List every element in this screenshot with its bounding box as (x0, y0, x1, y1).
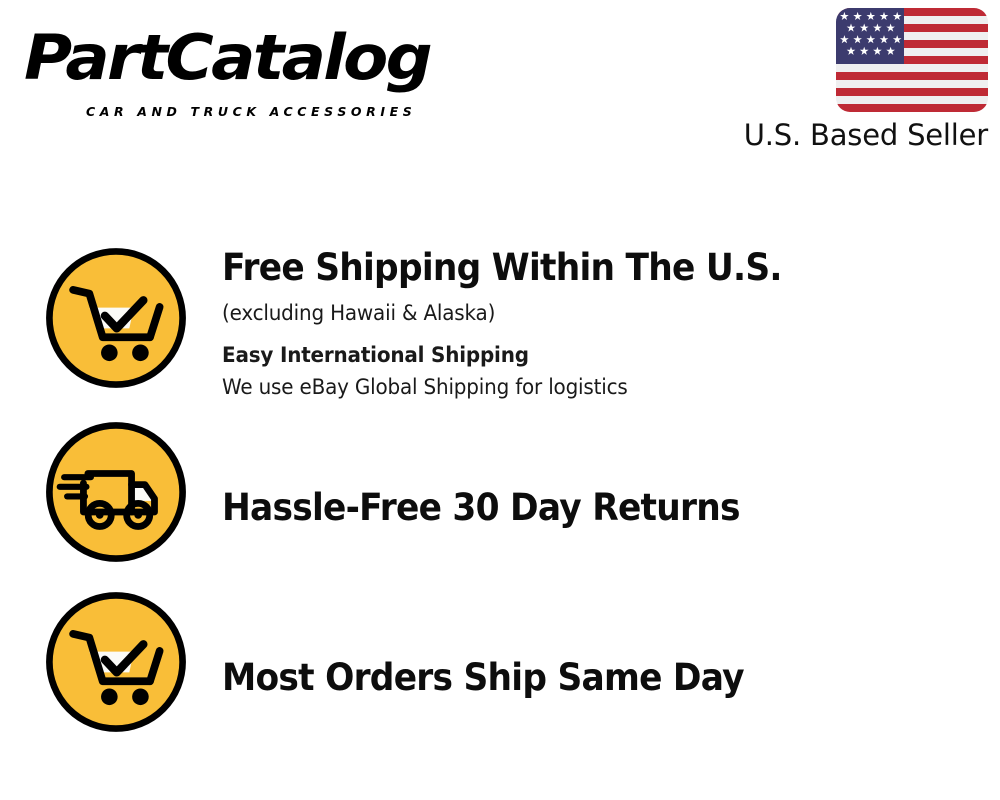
delivery-truck-icon (42, 418, 190, 566)
seller-location-label: U.S. Based Seller (718, 118, 988, 152)
us-based-seller-badge: U.S. Based Seller (718, 8, 988, 152)
us-flag-icon (836, 8, 988, 112)
brand-tagline: CAR AND TRUCK ACCESSORIES (86, 104, 416, 119)
feature-title: Most Orders Ship Same Day (222, 590, 929, 700)
shopping-cart-check-icon (42, 244, 190, 392)
partcatalog-logo[interactable]: PartCatalog CAR AND TRUCK ACCESSORIES (24, 22, 494, 118)
feature-text: Hassle-Free 30 Day Returns (190, 418, 982, 530)
feature-row: Hassle-Free 30 Day Returns (42, 418, 982, 566)
feature-text: Free Shipping Within The U.S. (excluding… (190, 244, 982, 403)
feature-text: Most Orders Ship Same Day (190, 588, 982, 700)
feature-row: Free Shipping Within The U.S. (excluding… (42, 244, 982, 403)
brand-wordmark: PartCatalog (24, 22, 430, 94)
feature-subdetail: We use eBay Global Shipping for logistic… (222, 372, 944, 403)
feature-title: Free Shipping Within The U.S. (222, 246, 929, 290)
feature-subheading: Easy International Shipping (222, 340, 944, 371)
feature-title: Hassle-Free 30 Day Returns (222, 420, 929, 530)
feature-subnote: (excluding Hawaii & Alaska) (222, 298, 944, 329)
shopping-cart-check-icon (42, 588, 190, 736)
promo-banner: PartCatalog CAR AND TRUCK ACCESSORIES (0, 0, 1000, 800)
feature-row: Most Orders Ship Same Day (42, 588, 982, 736)
